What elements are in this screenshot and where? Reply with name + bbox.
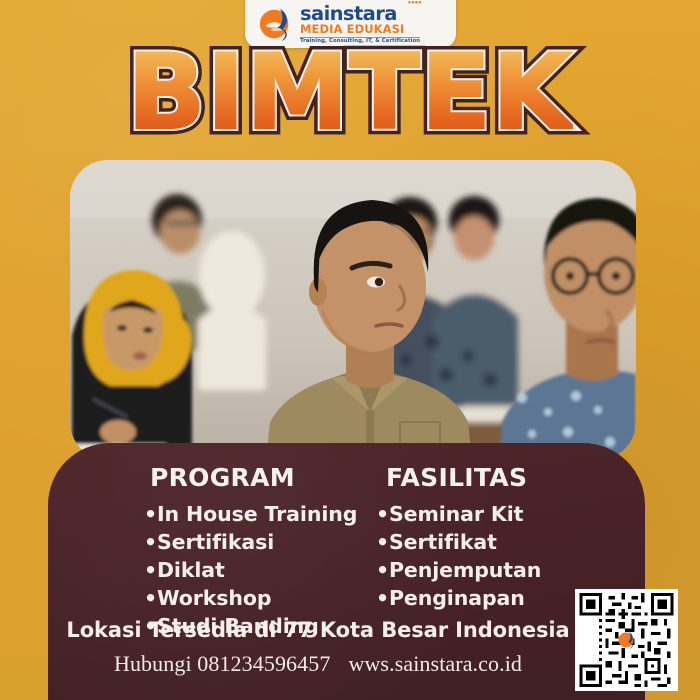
qr-code[interactable] — [575, 589, 678, 691]
logo-wordmark: sainstara •••• — [300, 4, 420, 24]
contact-row: Hubungi 081234596457wws.sainstara.co.id — [48, 651, 588, 677]
logo-wordmark-text: sainstara — [300, 2, 397, 25]
logo-dots: •••• — [407, 0, 421, 7]
program-heading: PROGRAM — [150, 463, 376, 492]
website-label: wws.sainstara.co.id — [348, 651, 522, 676]
poster-canvas: sainstara •••• MEDIA EDUKASI Training, C… — [0, 0, 700, 700]
seminar-photo — [70, 160, 636, 460]
info-panel: PROGRAM In House Training Sertifikasi Di… — [48, 443, 645, 700]
headline: BIMTEK BIMTEK BIMTEK — [0, 42, 700, 147]
info-columns: PROGRAM In House Training Sertifikasi Di… — [48, 463, 645, 640]
list-item: Workshop — [144, 584, 376, 612]
headline-text: BIMTEK — [127, 42, 573, 145]
list-item: Diklat — [144, 556, 376, 584]
list-item: Sertifikat — [376, 528, 616, 556]
fasilitas-heading: FASILITAS — [386, 463, 616, 492]
list-item: Sertifikasi — [144, 528, 376, 556]
list-item: In House Training — [144, 500, 376, 528]
list-item: Penjemputan — [376, 556, 616, 584]
program-column: PROGRAM In House Training Sertifikasi Di… — [144, 463, 376, 640]
list-item: Seminar Kit — [376, 500, 616, 528]
phone-label: Hubungi 081234596457 — [114, 651, 331, 676]
location-tagline: Lokasi Tersedia di 77 Kota Besar Indones… — [48, 618, 588, 642]
qr-center-logo-icon — [617, 630, 637, 650]
